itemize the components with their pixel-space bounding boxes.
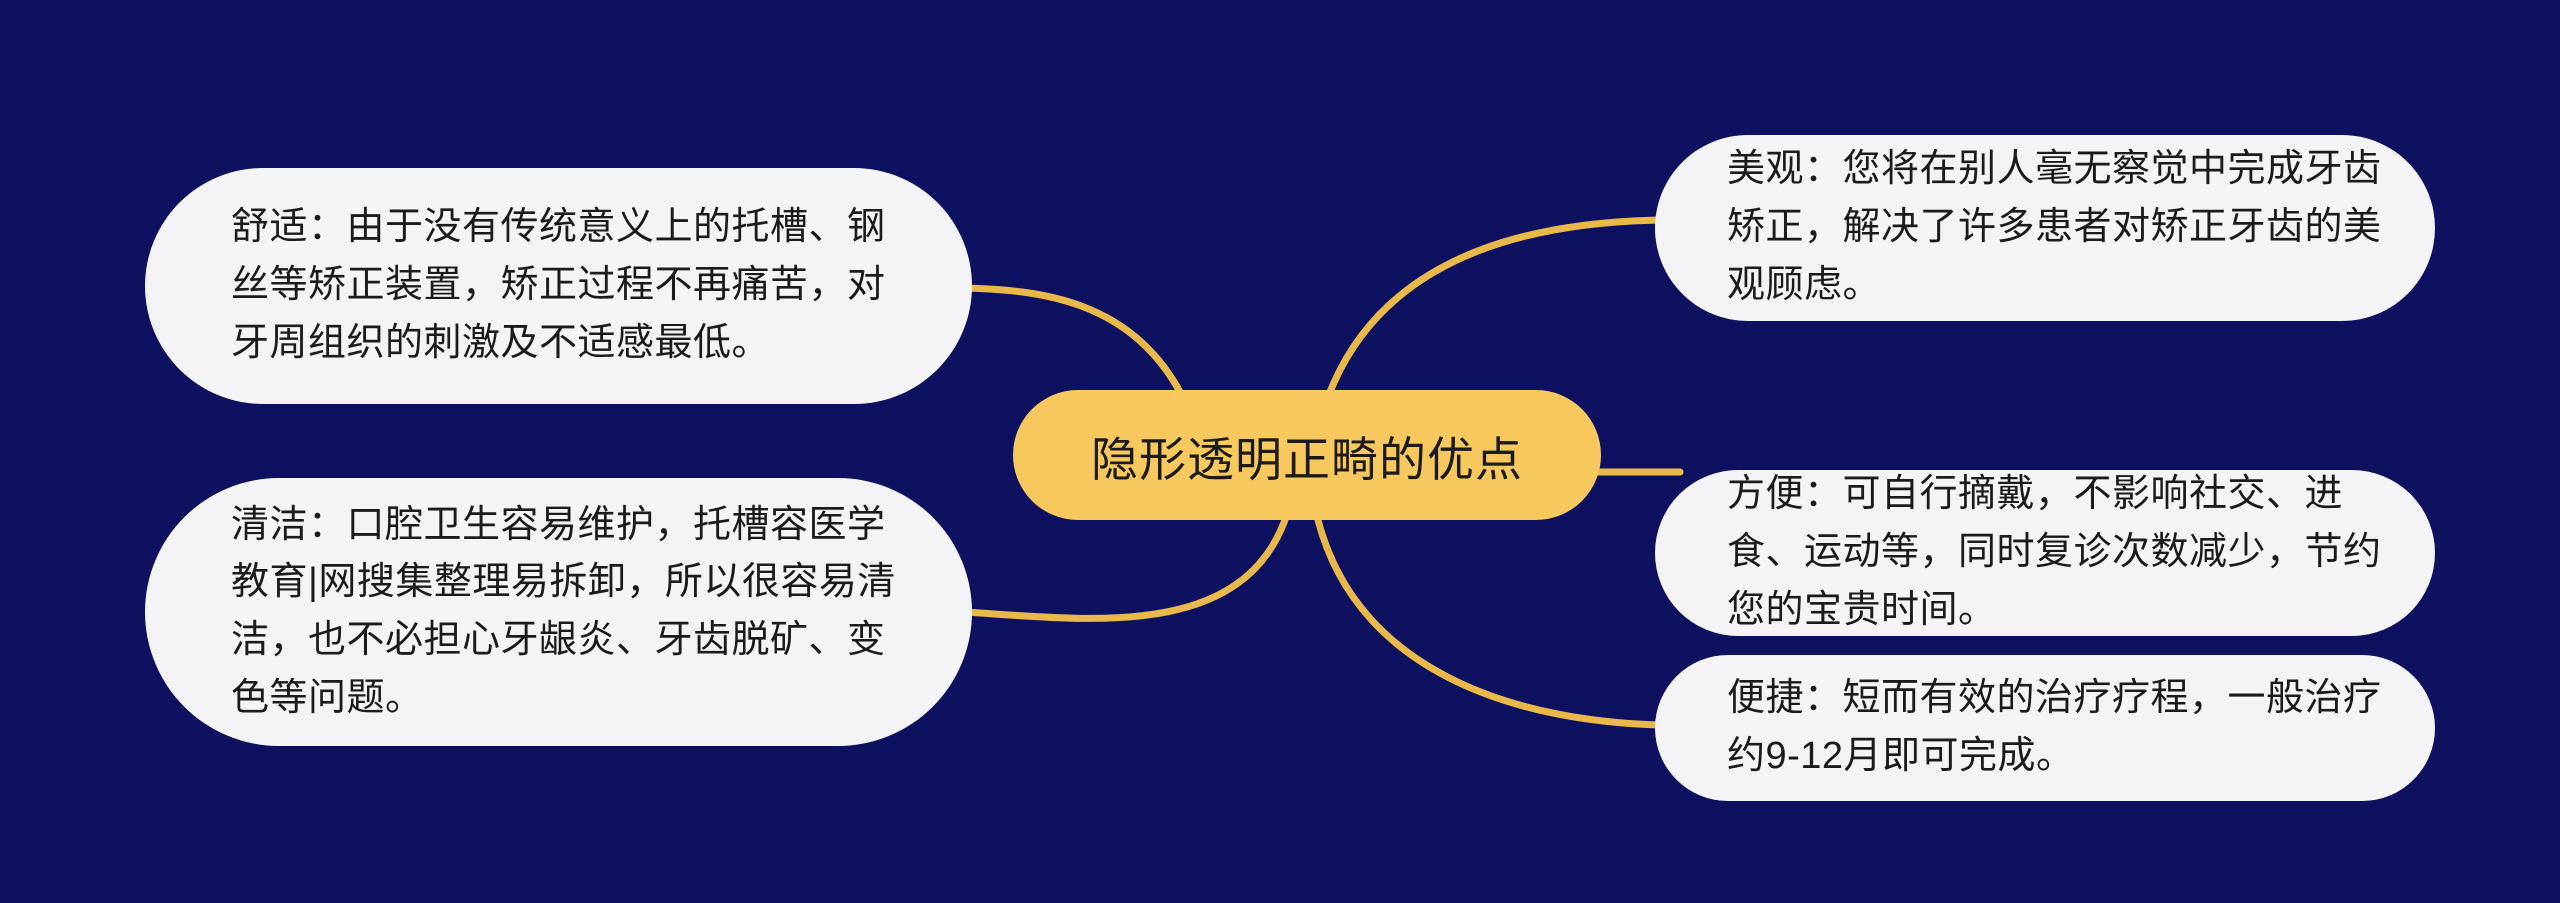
mindmap-canvas: 舒适：由于没有传统意义上的托槽、钢丝等矫正装置，矫正过程不再痛苦，对牙周组织的刺…	[0, 0, 2560, 903]
center-node-label: 隐形透明正畸的优点	[1091, 421, 1523, 490]
connector-center-to-aesthetic	[1330, 220, 1662, 392]
branch-node-clean[interactable]: 清洁：口腔卫生容易维护，托槽容医学教育|网搜集整理易拆卸，所以很容易清洁，也不必…	[145, 478, 972, 746]
branch-node-aesthetic-label: 美观：您将在别人毫无察觉中完成牙齿矫正，解决了许多患者对矫正牙齿的美观顾虑。	[1727, 141, 2385, 314]
branch-node-quick-label: 便捷：短而有效的治疗疗程，一般治疗约9‑12月即可完成。	[1727, 670, 2385, 786]
branch-node-aesthetic[interactable]: 美观：您将在别人毫无察觉中完成牙齿矫正，解决了许多患者对矫正牙齿的美观顾虑。	[1655, 135, 2435, 321]
connector-center-to-comfort	[965, 288, 1180, 392]
connector-center-to-clean	[965, 520, 1285, 618]
branch-node-clean-label: 清洁：口腔卫生容易维护，托槽容医学教育|网搜集整理易拆卸，所以很容易清洁，也不必…	[231, 497, 916, 728]
center-node[interactable]: 隐形透明正畸的优点	[1013, 390, 1601, 520]
branch-node-comfort[interactable]: 舒适：由于没有传统意义上的托槽、钢丝等矫正装置，矫正过程不再痛苦，对牙周组织的刺…	[145, 168, 972, 404]
branch-node-convenient-label: 方便：可自行摘戴，不影响社交、进食、运动等，同时复诊次数减少，节约您的宝贵时间。	[1727, 466, 2385, 639]
branch-node-convenient[interactable]: 方便：可自行摘戴，不影响社交、进食、运动等，同时复诊次数减少，节约您的宝贵时间。	[1655, 470, 2435, 636]
connector-center-to-quick	[1318, 520, 1662, 725]
branch-node-quick[interactable]: 便捷：短而有效的治疗疗程，一般治疗约9‑12月即可完成。	[1655, 655, 2435, 801]
branch-node-comfort-label: 舒适：由于没有传统意义上的托槽、钢丝等矫正装置，矫正过程不再痛苦，对牙周组织的刺…	[231, 199, 916, 372]
